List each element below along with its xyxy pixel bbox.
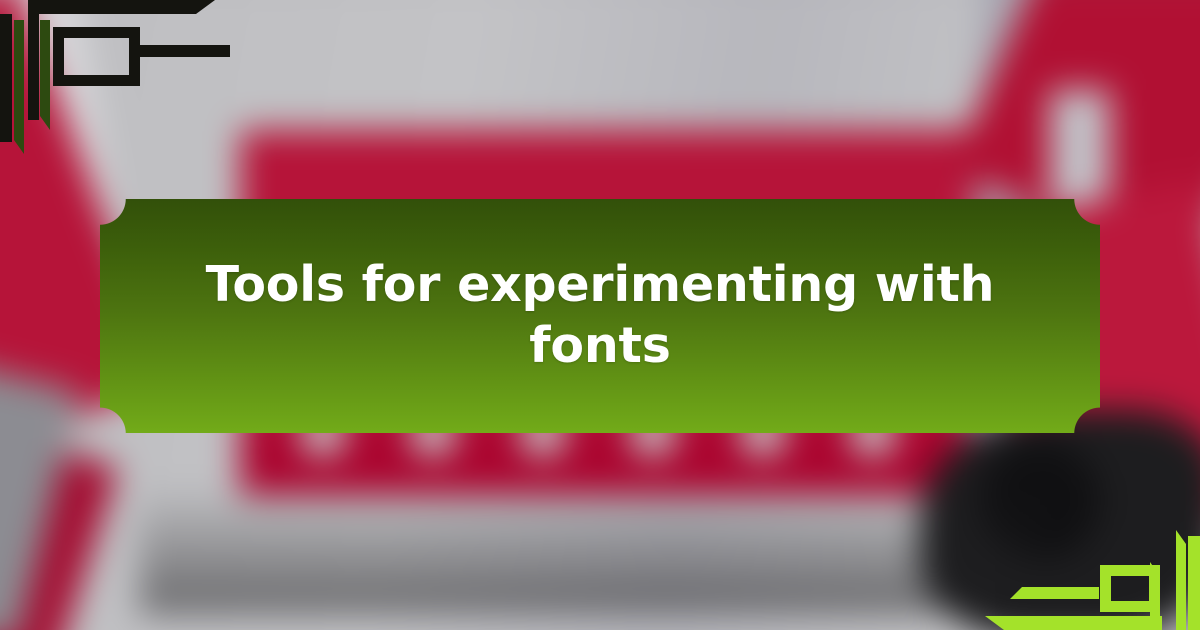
ornament-bar-link — [129, 45, 152, 57]
ornament-top-bar — [38, 0, 215, 14]
ornament-far-right-vertical — [1188, 536, 1200, 630]
ornament-square-outline — [53, 27, 140, 86]
ornament-second-bar — [155, 45, 230, 57]
ornament-bar-link2 — [152, 45, 155, 57]
ornament-green-vertical — [14, 20, 24, 154]
ornament-bottom-bar — [985, 616, 1162, 630]
page-title: Tools for experimenting with fonts — [100, 255, 1100, 377]
ornament-green-vertical-inner — [40, 20, 50, 130]
bg-shape-bottom-shadow — [140, 485, 1040, 615]
headline-banner: Tools for experimenting with fonts — [100, 199, 1100, 433]
corner-ornament-bottom-right — [970, 530, 1200, 630]
ornament-square-outline — [1100, 565, 1160, 612]
ornament-left-vertical — [0, 14, 12, 142]
ornament-right-vertical — [1176, 530, 1186, 630]
corner-ornament-top-left — [0, 0, 230, 185]
social-card-canvas: Tools for experimenting with fonts — [0, 0, 1200, 630]
ornament-second-vertical — [28, 0, 39, 120]
ornament-second-bar — [1010, 587, 1099, 599]
